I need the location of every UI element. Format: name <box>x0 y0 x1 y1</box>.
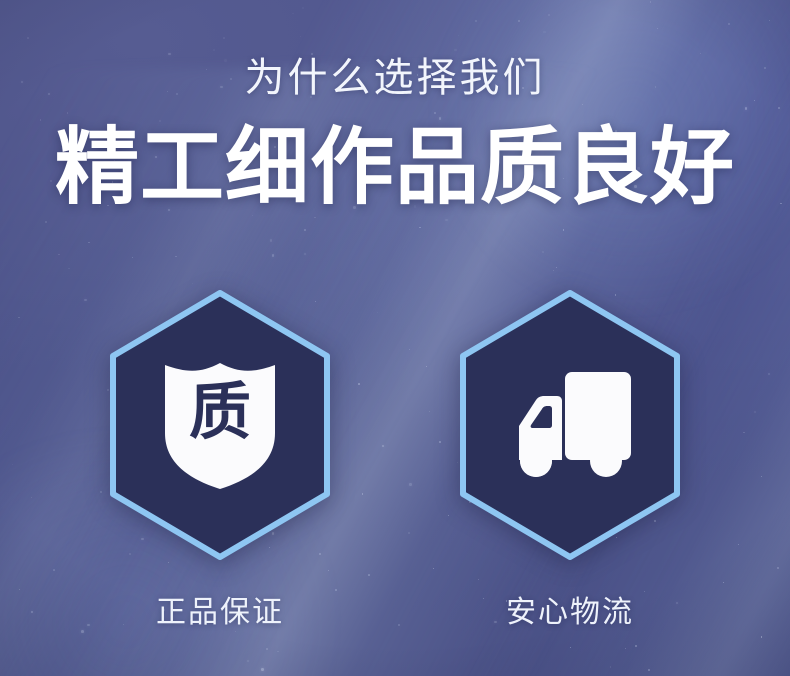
truck-icon-shape <box>505 366 635 484</box>
shield-icon-glyph: 质 <box>105 382 335 444</box>
banner-title: 精工细作品质良好 <box>0 123 790 211</box>
banner-subtitle: 为什么选择我们 <box>0 58 790 98</box>
hexagon-badge-logistics[interactable] <box>455 286 685 564</box>
feature-item-logistics[interactable]: 安心物流 <box>455 286 685 628</box>
promo-banner: 为什么选择我们 精工细作品质良好 质 正品保证 <box>0 0 790 676</box>
feature-label-quality: 正品保证 <box>156 598 284 628</box>
headline-block: 为什么选择我们 精工细作品质良好 <box>0 58 790 211</box>
shield-quality-icon: 质 <box>105 286 335 564</box>
feature-label-logistics: 安心物流 <box>506 598 634 628</box>
feature-row: 质 正品保证 <box>0 286 790 628</box>
hexagon-badge-quality[interactable]: 质 <box>105 286 335 564</box>
delivery-truck-icon <box>455 286 685 564</box>
feature-item-quality[interactable]: 质 正品保证 <box>105 286 335 628</box>
